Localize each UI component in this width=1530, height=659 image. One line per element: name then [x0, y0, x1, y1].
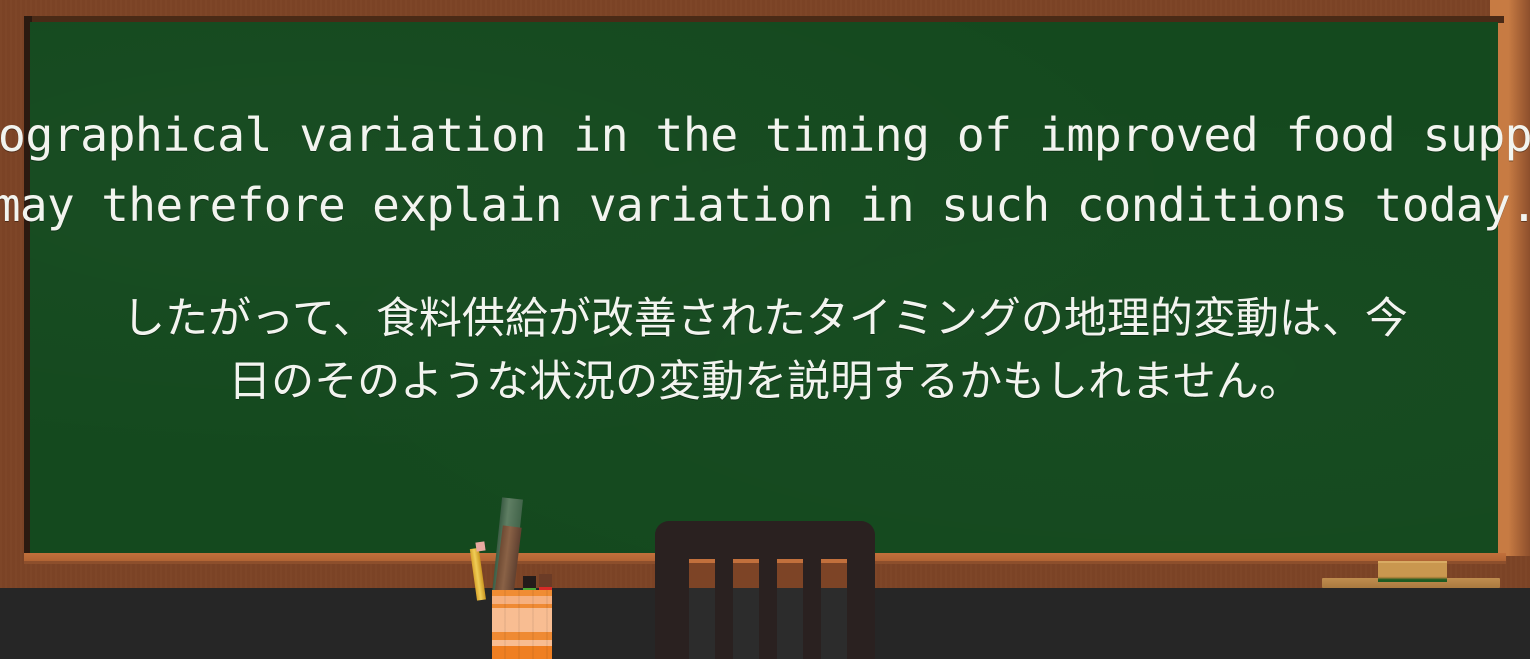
chair-gap-wall-4 — [821, 559, 847, 588]
chair-gap-wall-2 — [733, 559, 759, 588]
japanese-line-2: 日のそのような状況の変動を説明するかもしれません。 — [122, 351, 1408, 414]
english-line-2: may therefore explain variation in such … — [0, 170, 1530, 240]
pencil-cup — [492, 590, 552, 659]
pencil-cup-stripes — [492, 590, 552, 659]
green-marker-cap — [523, 576, 536, 588]
chair-slat-gap-4 — [821, 559, 847, 659]
chair-slat-gap-1 — [689, 559, 715, 659]
japanese-line-1: したがって、食料供給が改善されたタイミングの地理的変動は、今 — [122, 288, 1408, 351]
board-text-layer: Geographical variation in the timing of … — [0, 0, 1530, 553]
japanese-block: したがって、食料供給が改善されたタイミングの地理的変動は、今 日のそのような状況… — [122, 288, 1408, 414]
red-marker-cap — [539, 574, 552, 587]
chair-slat-gap-3 — [777, 559, 803, 659]
chalkboard-eraser[interactable] — [1378, 561, 1447, 582]
chair-gap-wall-3 — [777, 559, 803, 588]
english-line-1: Geographical variation in the timing of … — [0, 100, 1530, 170]
chair-gap-wall-1 — [689, 559, 715, 588]
chalkboard-scene: Geographical variation in the timing of … — [0, 0, 1530, 659]
chair-slat-gap-2 — [733, 559, 759, 659]
yellow-pencil — [470, 548, 486, 601]
